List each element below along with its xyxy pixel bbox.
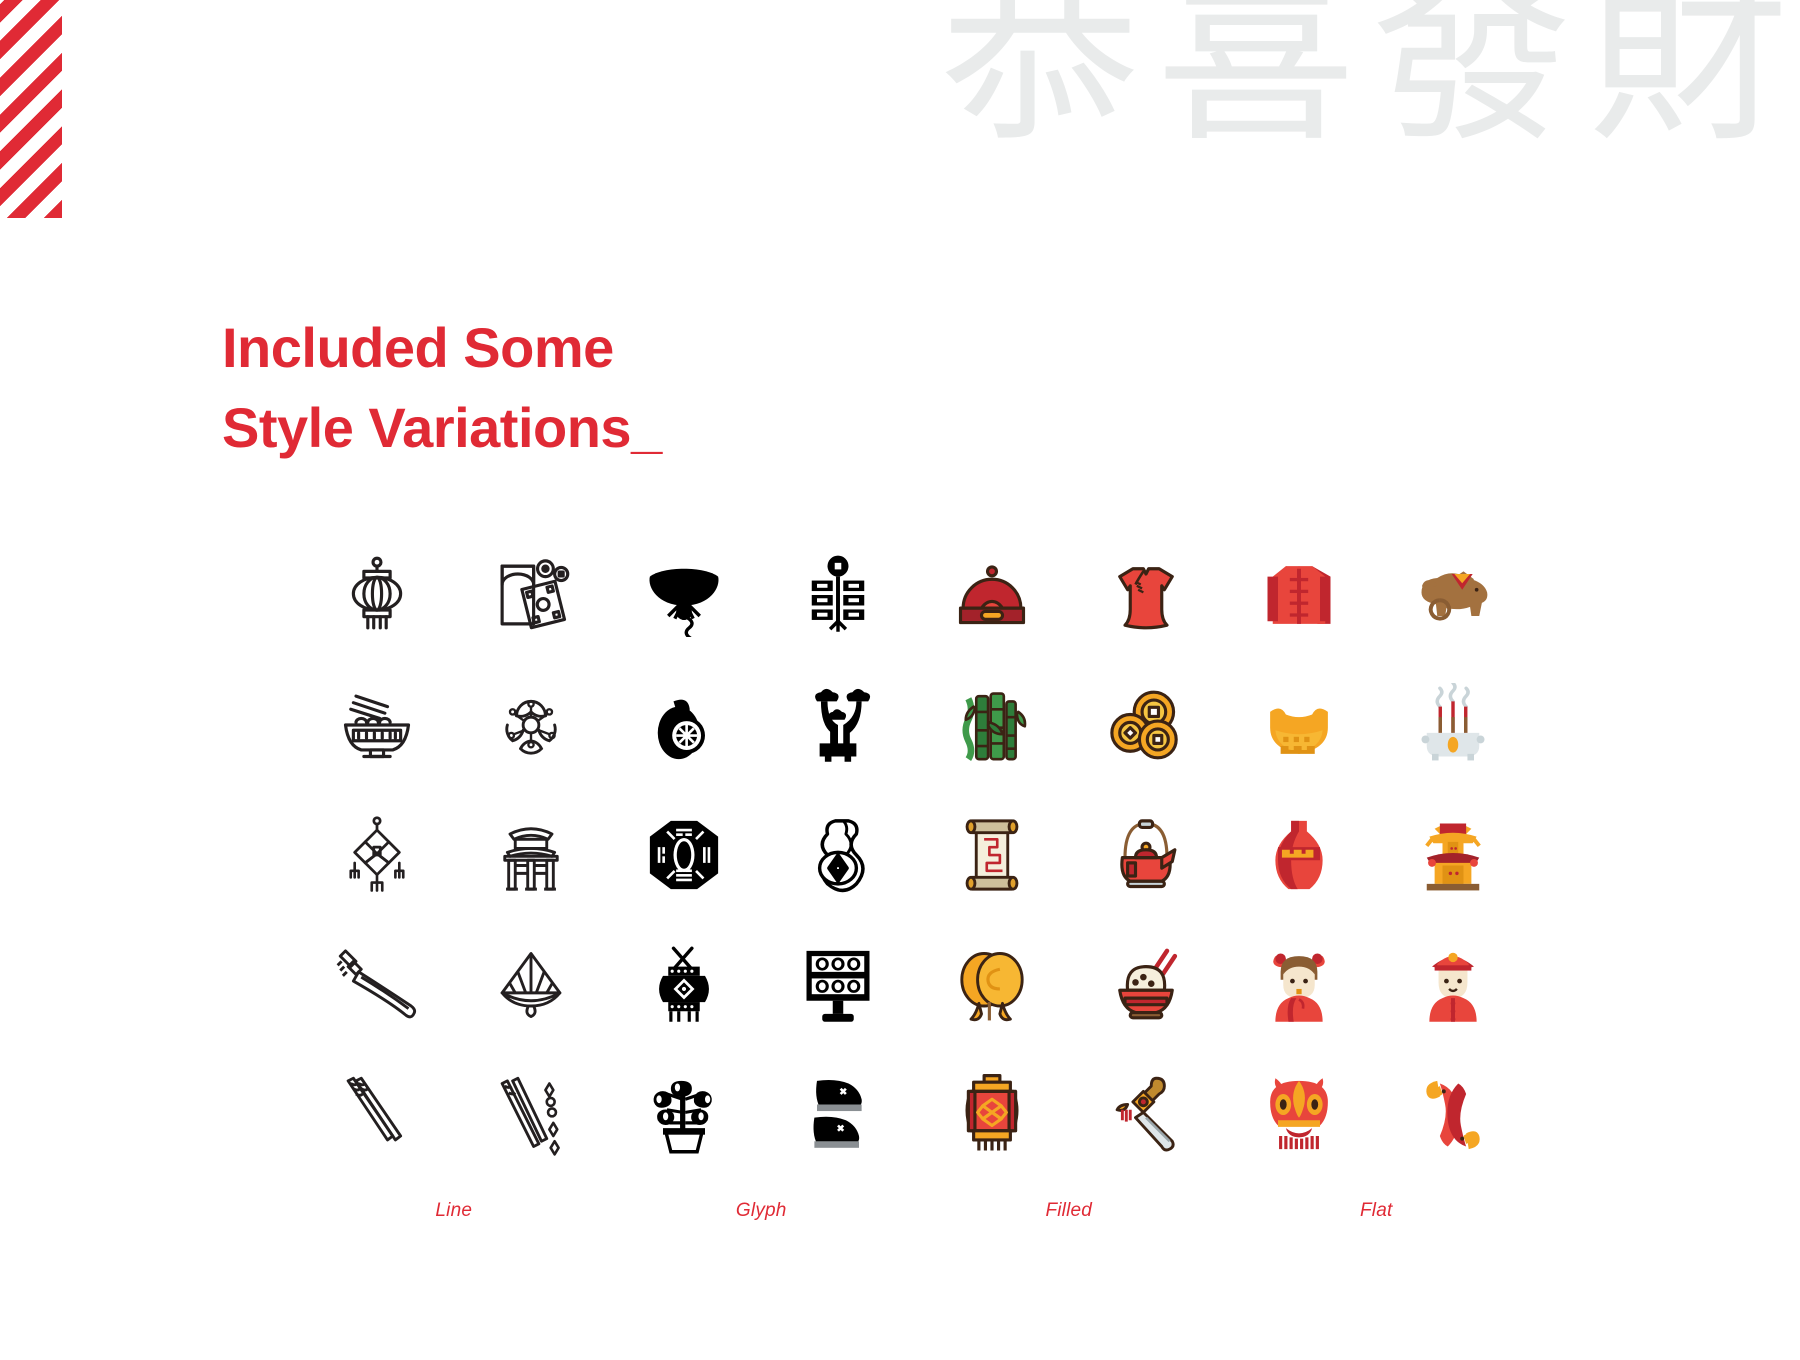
style-group-line <box>300 665 608 795</box>
scroll-icon[interactable] <box>938 795 1046 915</box>
pig-icon[interactable] <box>1399 535 1507 655</box>
boy-avatar-icon[interactable] <box>1399 925 1507 1045</box>
gold-disc-icon[interactable] <box>938 925 1046 1045</box>
lucky-coins-icon[interactable] <box>1092 665 1200 785</box>
style-group-glyph <box>608 535 916 665</box>
bagua-icon[interactable] <box>630 795 738 915</box>
style-group-flat <box>1223 925 1531 1055</box>
calabash-gourd-icon[interactable] <box>784 795 892 915</box>
hanging-lantern-icon[interactable] <box>630 925 738 1045</box>
caption-flat: Flat <box>1360 1200 1392 1222</box>
mandarin-hat-icon[interactable] <box>938 535 1046 655</box>
shrine-temple-icon[interactable] <box>1399 795 1507 915</box>
plum-blossom-icon[interactable] <box>477 665 585 785</box>
dao-sword-icon[interactable] <box>323 925 431 1045</box>
style-group-flat <box>1223 665 1531 795</box>
bamboo-icon[interactable] <box>938 665 1046 785</box>
corner-stripe-decoration <box>0 0 62 218</box>
hairpin-chopsticks-icon[interactable] <box>477 1055 585 1175</box>
page-title: Included Some Style Variations_ <box>222 308 662 467</box>
style-group-flat <box>1223 795 1531 925</box>
caption-group-glyph: Glyph <box>608 1200 916 1222</box>
style-group-line <box>300 795 608 925</box>
lion-dance-mask-icon[interactable] <box>1245 1055 1353 1175</box>
money-tree-icon[interactable] <box>630 1055 738 1175</box>
caption-group-line: Line <box>300 1200 608 1222</box>
style-group-glyph <box>608 925 916 1055</box>
page-title-line-2: Style Variations_ <box>222 388 662 468</box>
caption-line: Line <box>435 1200 472 1222</box>
icon-row <box>300 1055 1530 1185</box>
mandarin-orange-icon[interactable] <box>630 665 738 785</box>
folding-fan-icon[interactable] <box>630 535 738 655</box>
bonsai-tree-icon[interactable] <box>784 665 892 785</box>
cloth-shoes-icon[interactable] <box>784 1055 892 1175</box>
style-group-filled <box>915 925 1223 1055</box>
style-group-flat <box>1223 535 1531 665</box>
caption-group-flat: Flat <box>1223 1200 1531 1222</box>
style-group-line <box>300 1055 608 1185</box>
watermark-chinese-text: 恭喜發財 <box>940 0 1800 154</box>
style-group-line <box>300 535 608 665</box>
style-group-glyph <box>608 665 916 795</box>
style-caption-row: Line Glyph Filled Flat <box>300 1200 1530 1222</box>
tang-jacket-icon[interactable] <box>1245 535 1353 655</box>
abacus-icon[interactable] <box>784 925 892 1045</box>
style-group-line <box>300 925 608 1055</box>
style-group-filled <box>915 535 1223 665</box>
icon-row <box>300 925 1530 1055</box>
style-group-glyph <box>608 795 916 925</box>
girl-avatar-icon[interactable] <box>1245 925 1353 1045</box>
style-group-filled <box>915 795 1223 925</box>
bamboo-hat-icon[interactable] <box>477 925 585 1045</box>
icon-row <box>300 665 1530 795</box>
koi-fish-icon[interactable] <box>1399 1055 1507 1175</box>
page-title-line-1: Included Some <box>222 308 662 388</box>
caption-group-filled: Filled <box>915 1200 1223 1222</box>
cheongsam-dress-icon[interactable] <box>1092 535 1200 655</box>
rice-bowl-chopsticks-icon[interactable] <box>1092 925 1200 1045</box>
caption-glyph: Glyph <box>736 1200 787 1222</box>
vase-icon[interactable] <box>1245 795 1353 915</box>
style-group-filled <box>915 1055 1223 1185</box>
firecrackers-icon[interactable] <box>784 535 892 655</box>
style-group-flat <box>1223 1055 1531 1185</box>
chinese-knot-icon[interactable] <box>323 795 431 915</box>
lantern-icon[interactable] <box>323 535 431 655</box>
style-group-glyph <box>608 1055 916 1185</box>
gold-ingot-icon[interactable] <box>1245 665 1353 785</box>
paifang-gate-icon[interactable] <box>477 795 585 915</box>
icon-row <box>300 795 1530 925</box>
chopsticks-icon[interactable] <box>323 1055 431 1175</box>
noodle-bowl-icon[interactable] <box>323 665 431 785</box>
style-group-filled <box>915 665 1223 795</box>
incense-burner-icon[interactable] <box>1399 665 1507 785</box>
red-envelope-money-icon[interactable] <box>477 535 585 655</box>
teapot-icon[interactable] <box>1092 795 1200 915</box>
caption-filled: Filled <box>1045 1200 1092 1222</box>
dagger-icon[interactable] <box>1092 1055 1200 1175</box>
icon-showcase-grid <box>300 535 1530 1185</box>
red-lantern-icon[interactable] <box>938 1055 1046 1175</box>
icon-row <box>300 535 1530 665</box>
